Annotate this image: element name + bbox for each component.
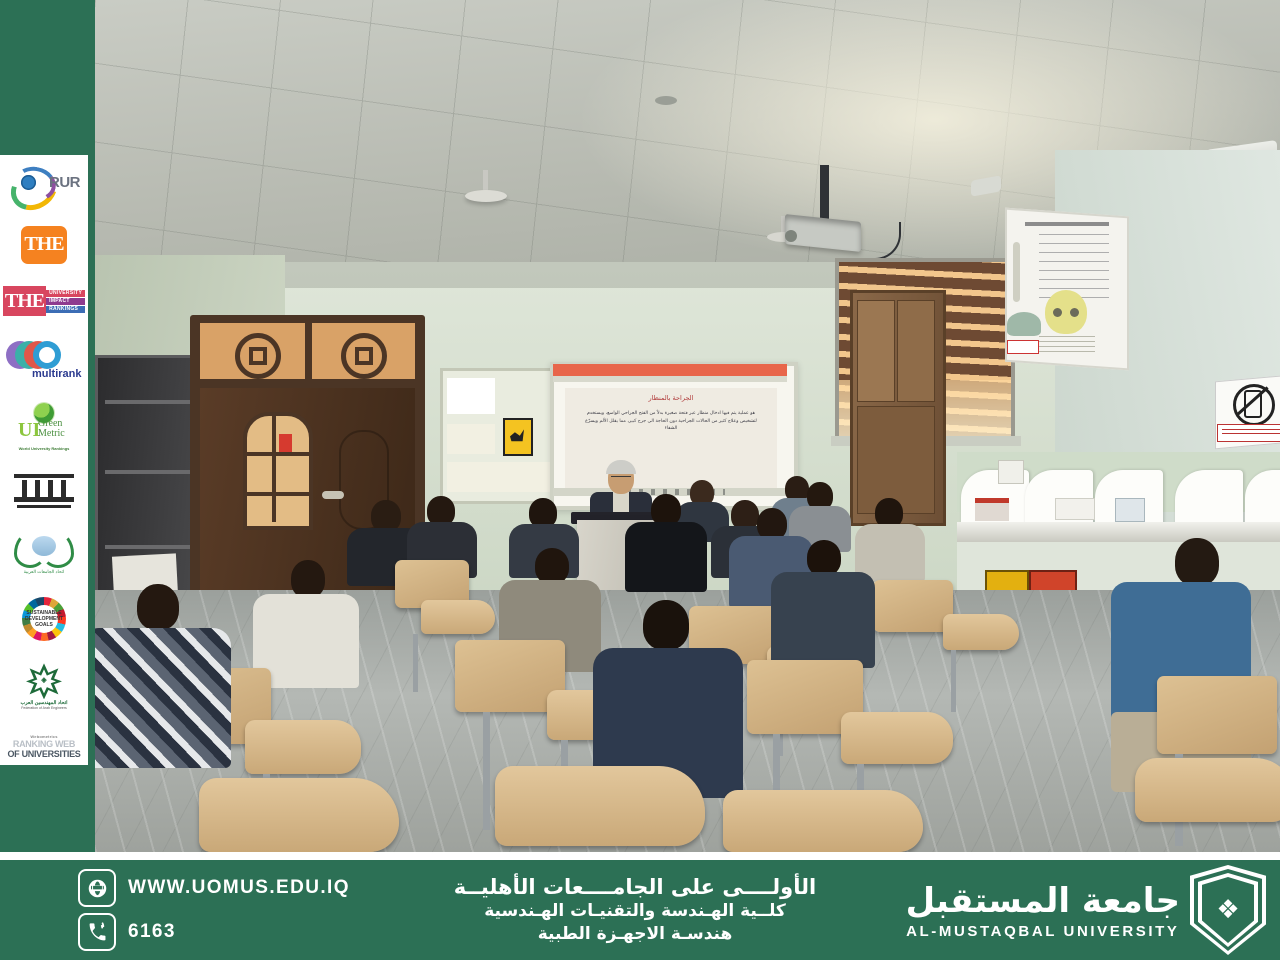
poster-skull-eye [1053, 308, 1062, 317]
poster-skull-diagram [1045, 290, 1087, 334]
sdg-label: SUSTAINABLE DEVELOPMENT GOALS [22, 597, 66, 641]
phone-icon [78, 913, 116, 951]
federation-label-en: Federation of Arab Engineers [13, 706, 75, 710]
cabinet-shelf [105, 400, 193, 404]
ranking-logo-sdg: SUSTAINABLE DEVELOPMENT GOALS [6, 597, 82, 641]
cabinet-door [857, 300, 895, 402]
poster-caption-lines [1039, 336, 1095, 356]
ranking-logo-webometrics: Webometrics RANKING WEB OF UNIVERSITIES [6, 734, 82, 759]
transom-ornament-icon [341, 333, 387, 379]
ranking-logo-the-impact: THE UNIVERSITY IMPACT RANKINGS [6, 286, 82, 316]
ranking-logo-federation-arab-engineers: ◈ اتحاد المهندسين العرب Federation of Ar… [6, 663, 82, 711]
smoke-detector-icon [655, 96, 677, 105]
the-impact-line3: RANKINGS [46, 306, 85, 313]
contact-block: WWW.UOMUS.EDU.IQ 6163 [0, 863, 400, 957]
ranking-logo-columns-emblem [6, 474, 82, 508]
poster-skull-eye [1070, 308, 1079, 317]
bench-equipment [998, 460, 1024, 484]
poster-bone-diagram [1013, 242, 1020, 302]
arab-universities-caption: اتحاد الجامعات العربية [12, 569, 76, 575]
footer-banner: WWW.UOMUS.EDU.IQ 6163 الأولــــى على الج… [0, 860, 1280, 960]
the-impact-label: THE [3, 286, 46, 316]
tagline-line-3: هندسـة الاجهـزة الطبية [400, 923, 870, 946]
university-brand: جامعة المستقبل AL-MUSTAQBAL UNIVERSITY ❖ [880, 865, 1280, 955]
columns-icon [14, 474, 74, 508]
bench-glassware [1115, 498, 1145, 522]
projected-slide: الجراحة بالمنظار هو عملية يتم فيها ادخال… [565, 388, 777, 488]
webometrics-line1: RANKING WEB [6, 739, 82, 749]
globe-www-icon [78, 869, 116, 907]
ranking-logo-arab-universities: اتحاد الجامعات العربية [6, 530, 82, 574]
lecturer-glasses-icon [611, 476, 631, 482]
greenmetric-name: Green Metric [38, 419, 65, 439]
the-label: THE [21, 226, 67, 264]
bench-equipment [1055, 498, 1095, 520]
greenmetric-caption: World University Rankings [6, 446, 82, 451]
university-name-en: AL-MUSTAQBAL UNIVERSITY [906, 923, 1180, 940]
poster-pelvis-diagram [1007, 312, 1041, 336]
transom-ornament-icon [235, 333, 281, 379]
sdg-wheel-icon: SUSTAINABLE DEVELOPMENT GOALS [22, 597, 66, 641]
no-phone-caption [1217, 424, 1280, 442]
door-window-mullion [272, 412, 276, 522]
cabinet-shelf [105, 470, 193, 474]
website-row[interactable]: WWW.UOMUS.EDU.IQ [78, 869, 400, 907]
warning-sign-icon [503, 418, 533, 456]
bench-partition [1175, 470, 1243, 528]
emergency-exit-sticker [279, 434, 292, 452]
rankings-sidebar: RUR THE THE UNIVERSITY IMPACT RANKINGS m… [0, 155, 88, 765]
multirank-label: multirank [32, 368, 82, 380]
ranking-logo-ui-greenmetric: UI Green Metric World University Ranking… [6, 403, 82, 451]
tagline-line-2: كلــية الهـندسة والتقنيـات الهـندسية [400, 900, 870, 923]
whiteboard-top-band [553, 364, 787, 376]
photo-banner-divider [0, 852, 1280, 860]
the-impact-line1: UNIVERSITY [46, 290, 85, 297]
tagline-block: الأولــــى على الجامــــعات الأهليــة كل… [400, 874, 880, 946]
slide-title: الجراحة بالمنظار [565, 394, 777, 402]
rur-label: RUR [49, 174, 80, 191]
the-impact-line2: IMPACT [46, 298, 85, 305]
projector-lens-icon [785, 230, 797, 242]
notice-paper [447, 462, 551, 492]
notice-paper [447, 424, 495, 454]
cabinet-door [857, 406, 935, 514]
federation-inner-glyph: ◈ [41, 676, 46, 684]
multirank-inner-dot-icon [39, 347, 55, 363]
door-window [243, 412, 313, 530]
ranking-logo-rur: RUR [6, 163, 82, 203]
university-name-ar: جامعة المستقبل [906, 881, 1180, 921]
cabinet-shelf [105, 545, 193, 549]
rur-globe-icon [21, 175, 36, 190]
notice-paper [447, 378, 495, 414]
ceiling-light-fixture [465, 190, 507, 202]
bench-equipment [975, 498, 1009, 521]
lab-bench-top [957, 522, 1280, 542]
poster-red-caption [1007, 340, 1039, 354]
ranking-logo-the: THE [6, 226, 82, 264]
door-window-mullion [243, 452, 313, 456]
phone-row[interactable]: 6163 [78, 913, 400, 951]
greenmetric-ui-label: UI [18, 419, 40, 442]
transom-divider [305, 323, 312, 379]
ranking-logo-multirank: multirank [6, 339, 82, 381]
door-handle [322, 491, 344, 499]
phone-label: 6163 [128, 921, 176, 943]
slide-body: هو عملية يتم فيها ادخال منظار عبر فتحة ص… [579, 410, 763, 433]
ceiling-fixture-pole [483, 170, 488, 192]
lecture-hall-photo: الجراحة بالمنظار هو عملية يتم فيها ادخال… [95, 0, 1280, 852]
webometrics-line2: OF UNIVERSITIES [6, 749, 82, 759]
poster-title-bar [1025, 222, 1109, 226]
whiteboard-toolbar-band [553, 376, 787, 382]
website-label: WWW.UOMUS.EDU.IQ [128, 877, 350, 899]
projector-mount-pole [820, 165, 829, 220]
cabinet-door [897, 300, 935, 402]
door-window-mullion [243, 492, 313, 496]
tagline-line-1: الأولــــى على الجامــــعات الأهليــة [400, 874, 870, 900]
shield-emblem-icon: ❖ [1190, 865, 1266, 955]
brand-text: جامعة المستقبل AL-MUSTAQBAL UNIVERSITY [906, 881, 1180, 940]
